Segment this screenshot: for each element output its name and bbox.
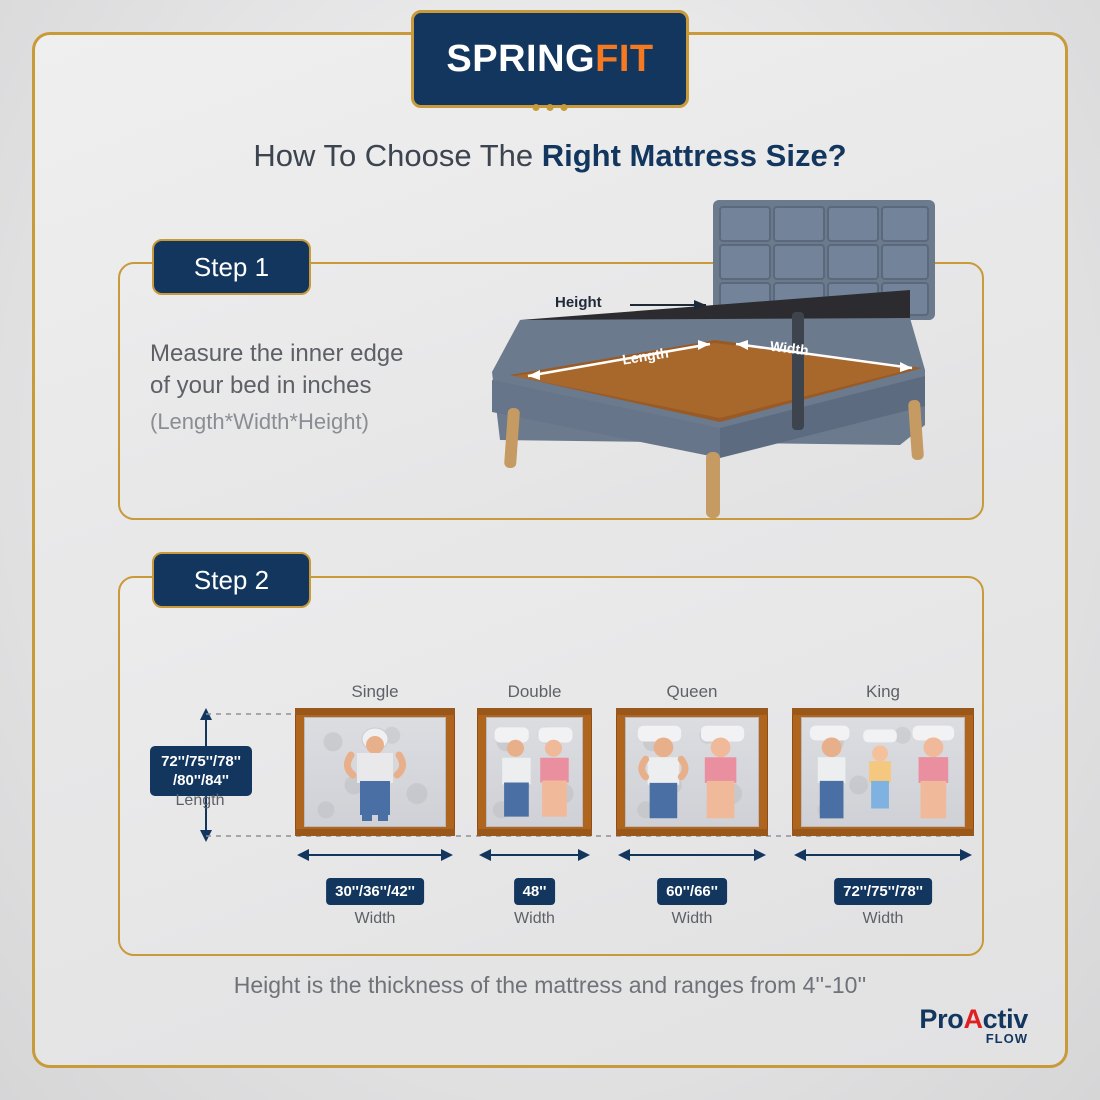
bed-svg xyxy=(470,190,970,530)
mattress-box xyxy=(616,708,768,836)
mattress-width-label: 48'' xyxy=(514,878,556,905)
sleeper-figures-icon xyxy=(802,718,964,826)
width-arrow xyxy=(792,844,974,866)
mattress-box xyxy=(792,708,974,836)
mattress-surface xyxy=(801,717,965,827)
width-arrow xyxy=(477,844,592,866)
mattress-width-label: 72''/75''/78'' xyxy=(834,878,932,905)
mattress-width-caption: Width xyxy=(295,910,455,928)
brand-logo-badge: SPRINGFIT xyxy=(411,10,689,108)
proactiv-logo: ProActiv FLOW xyxy=(919,1004,1028,1046)
logo-spring: SPRING xyxy=(446,38,595,80)
instruction-sub: (Length*Width*Height) xyxy=(150,406,480,438)
mattress-name: Queen xyxy=(616,682,768,702)
sleeper-figures-icon xyxy=(626,718,758,826)
step1-instruction: Measure the inner edge of your bed in in… xyxy=(150,338,480,438)
mattress-size-row: Single 3 xyxy=(150,672,960,942)
instruction-line-2: of your bed in inches xyxy=(150,370,480,402)
mattress-width-label: 30''/36''/42'' xyxy=(326,878,424,905)
mattress-surface xyxy=(625,717,759,827)
mattress-surface xyxy=(304,717,446,827)
title-plain: How To Choose The xyxy=(253,138,541,173)
step1-chip: Step 1 xyxy=(152,239,311,295)
mattress-width-label: 60''/66'' xyxy=(657,878,727,905)
mattress-name: King xyxy=(792,682,974,702)
mattress-width-caption: Width xyxy=(792,910,974,928)
step2-chip: Step 2 xyxy=(152,552,311,608)
proactiv-activ: ctiv xyxy=(983,1004,1028,1034)
logo-dots-decoration xyxy=(533,104,568,111)
mattress-box xyxy=(295,708,455,836)
width-arrow xyxy=(295,844,455,866)
mattress-width-caption: Width xyxy=(477,910,592,928)
mattress-name: Single xyxy=(295,682,455,702)
proactiv-pro: Pro xyxy=(919,1004,963,1034)
bed-illustration: Length Width Height xyxy=(470,190,970,530)
bed-height-label: Height xyxy=(555,294,602,311)
sleeper-figure-icon xyxy=(305,718,445,826)
instruction-line-1: Measure the inner edge xyxy=(150,338,480,370)
width-arrow xyxy=(616,844,768,866)
proactiv-a: A xyxy=(963,1004,982,1034)
mattress-box xyxy=(477,708,592,836)
infographic-page: SPRINGFIT How To Choose The Right Mattre… xyxy=(0,0,1100,1100)
mattress-name: Double xyxy=(477,682,592,702)
page-title: How To Choose The Right Mattress Size? xyxy=(0,138,1100,174)
mattress-surface xyxy=(486,717,583,827)
mattress-width-caption: Width xyxy=(616,910,768,928)
logo-fit: FIT xyxy=(595,38,653,80)
footnote-text: Height is the thickness of the mattress … xyxy=(0,972,1100,999)
sleeper-figures-icon xyxy=(487,718,582,826)
title-highlight: Right Mattress Size? xyxy=(542,138,847,173)
brand-logo-text: SPRINGFIT xyxy=(446,38,653,81)
